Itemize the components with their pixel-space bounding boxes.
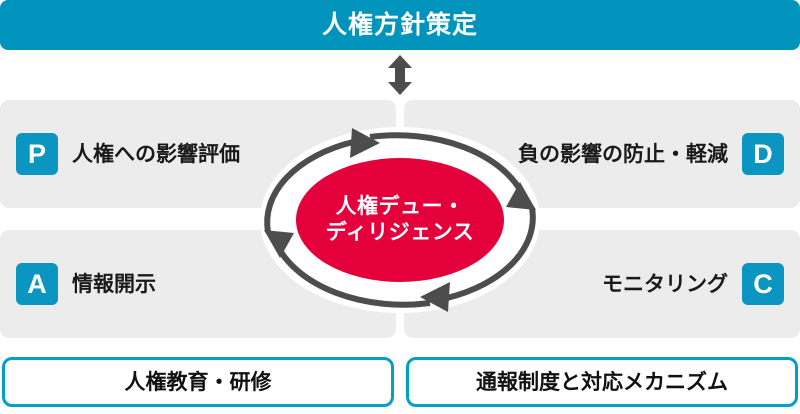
policy-banner-label: 人権方針策定 — [322, 13, 478, 38]
pdca-human-rights-diagram: 人権方針策定 P 人権への影響評価 負の影響の防止・軽減 D A 情報開示 モニ… — [0, 0, 800, 414]
quadrant-check-label: モニタリング — [602, 274, 728, 295]
badge-p: P — [16, 133, 58, 175]
quadrant-plan: P 人権への影響評価 — [16, 132, 240, 176]
quadrant-do: 負の影響の防止・軽減 D — [518, 132, 784, 176]
footer-box-education: 人権教育・研修 — [2, 357, 394, 407]
footer-box-grievance: 通報制度と対応メカニズム — [406, 357, 798, 407]
badge-c: C — [742, 263, 784, 305]
quadrant-plan-label: 人権への影響評価 — [72, 144, 240, 165]
policy-banner: 人権方針策定 — [0, 0, 800, 50]
quadrant-act: A 情報開示 — [16, 262, 156, 306]
quadrant-act-label: 情報開示 — [72, 274, 156, 295]
footer-box-education-label: 人権教育・研修 — [125, 372, 272, 393]
badge-d: D — [742, 133, 784, 175]
quadrant-check: モニタリング C — [602, 262, 784, 306]
human-rights-due-diligence-cycle: 人権デュー・ ディリジェンス — [258, 125, 542, 315]
footer-box-grievance-label: 通報制度と対応メカニズム — [476, 372, 728, 393]
badge-a: A — [16, 263, 58, 305]
double-arrow-vertical-icon — [382, 55, 418, 95]
quadrant-do-label: 負の影響の防止・軽減 — [518, 144, 728, 165]
